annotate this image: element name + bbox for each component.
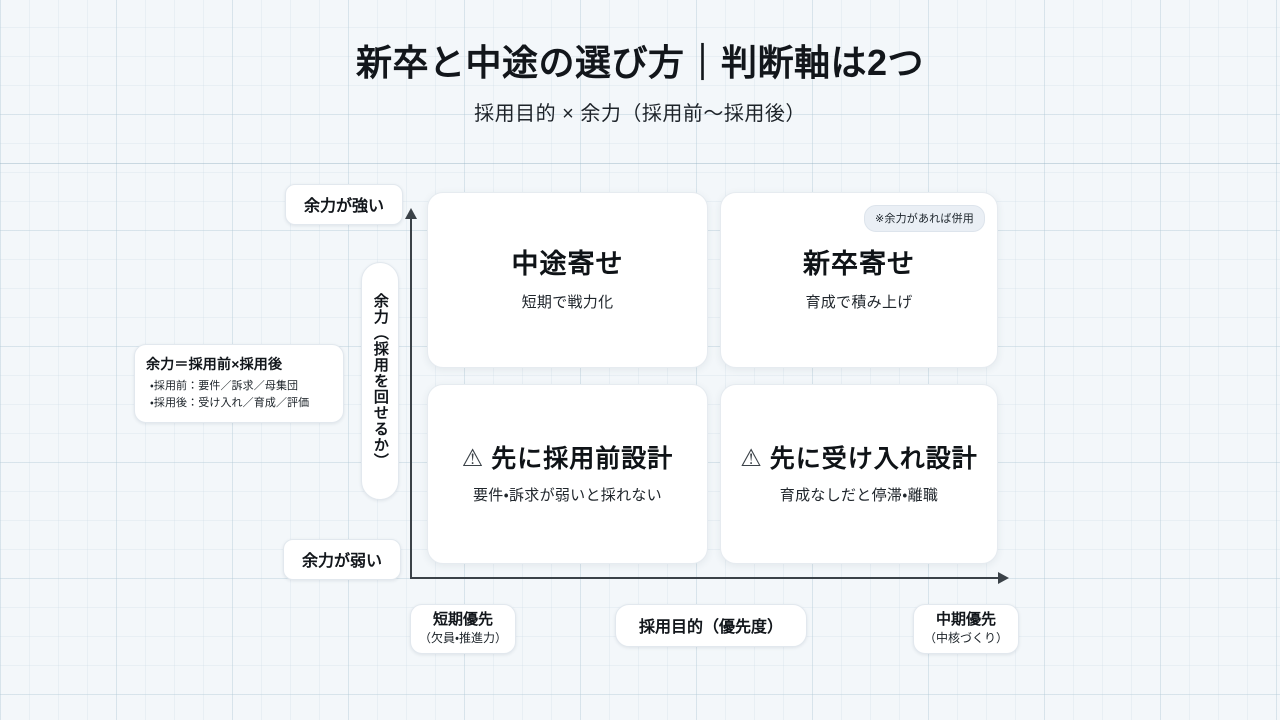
warning-triangle-icon: ⚠ [462,447,485,471]
header-divider [0,163,1280,164]
quadrant-card-bottom-right[interactable]: ⚠ 先に受け入れ設計 育成なしだと停滞・離職 [720,384,998,564]
x-axis-left-label: 短期優先 （欠員・推進力） [410,604,516,654]
quadrant-title: 先に受け入れ設計 [770,444,978,474]
legend-line-before: ・採用前：要件／訴求／母集団 [146,378,332,395]
quadrant-card-top-left[interactable]: 中途寄せ 短期で戦力化 [427,192,708,368]
quadrant-title: 中途寄せ [512,248,624,280]
x-axis-line [410,577,1000,579]
quadrant-badge: ※余力があれば併用 [864,205,985,232]
page-title: 新卒と中途の選び方｜判断軸は2つ [0,0,1280,85]
quadrant-subtitle: 要件・訴求が弱いと採れない [473,484,662,505]
quadrant-title: 新卒寄せ [803,248,915,280]
quadrant-subtitle: 育成で積み上げ [805,291,912,312]
legend-line-after: ・採用後：受け入れ／育成／評価 [146,395,332,412]
y-axis-line [410,218,412,578]
x-axis-right-label-sub: （中核づくり） [914,630,1018,646]
x-axis-title: 採用目的（優先度） [615,604,807,647]
y-axis-title: 余力（採用を回せるか） [361,262,399,500]
warning-triangle-icon: ⚠ [740,447,763,471]
quadrant-subtitle: 短期で戦力化 [522,291,614,312]
page-subtitle: 採用目的 × 余力（採用前〜採用後） [0,85,1280,126]
quadrant-card-top-right[interactable]: ※余力があれば併用 新卒寄せ 育成で積み上げ [720,192,998,368]
x-axis-arrow-icon [998,572,1009,584]
header: 新卒と中途の選び方｜判断軸は2つ 採用目的 × 余力（採用前〜採用後） [0,0,1280,126]
legend-note-box: 余力＝採用前×採用後 ・採用前：要件／訴求／母集団 ・採用後：受け入れ／育成／評… [134,344,344,423]
quadrant-title: 先に採用前設計 [491,444,673,474]
y-axis-arrow-icon [405,208,417,219]
x-axis-right-label: 中期優先 （中核づくり） [913,604,1019,654]
x-axis-left-label-main: 短期優先 [411,611,515,630]
slide-canvas: 新卒と中途の選び方｜判断軸は2つ 採用目的 × 余力（採用前〜採用後） 余力が強… [0,0,1280,720]
x-axis-left-label-sub: （欠員・推進力） [411,630,515,646]
x-axis-right-label-main: 中期優先 [914,611,1018,630]
y-axis-bottom-label: 余力が弱い [283,539,401,580]
quadrant-card-bottom-left[interactable]: ⚠ 先に採用前設計 要件・訴求が弱いと採れない [427,384,708,564]
quadrant-subtitle: 育成なしだと停滞・離職 [780,484,938,505]
legend-title: 余力＝採用前×採用後 [146,354,332,374]
quadrant-title-row: ⚠ 先に受け入れ設計 [740,444,978,474]
y-axis-top-label: 余力が強い [285,184,403,225]
quadrant-title-row: ⚠ 先に採用前設計 [462,444,674,474]
